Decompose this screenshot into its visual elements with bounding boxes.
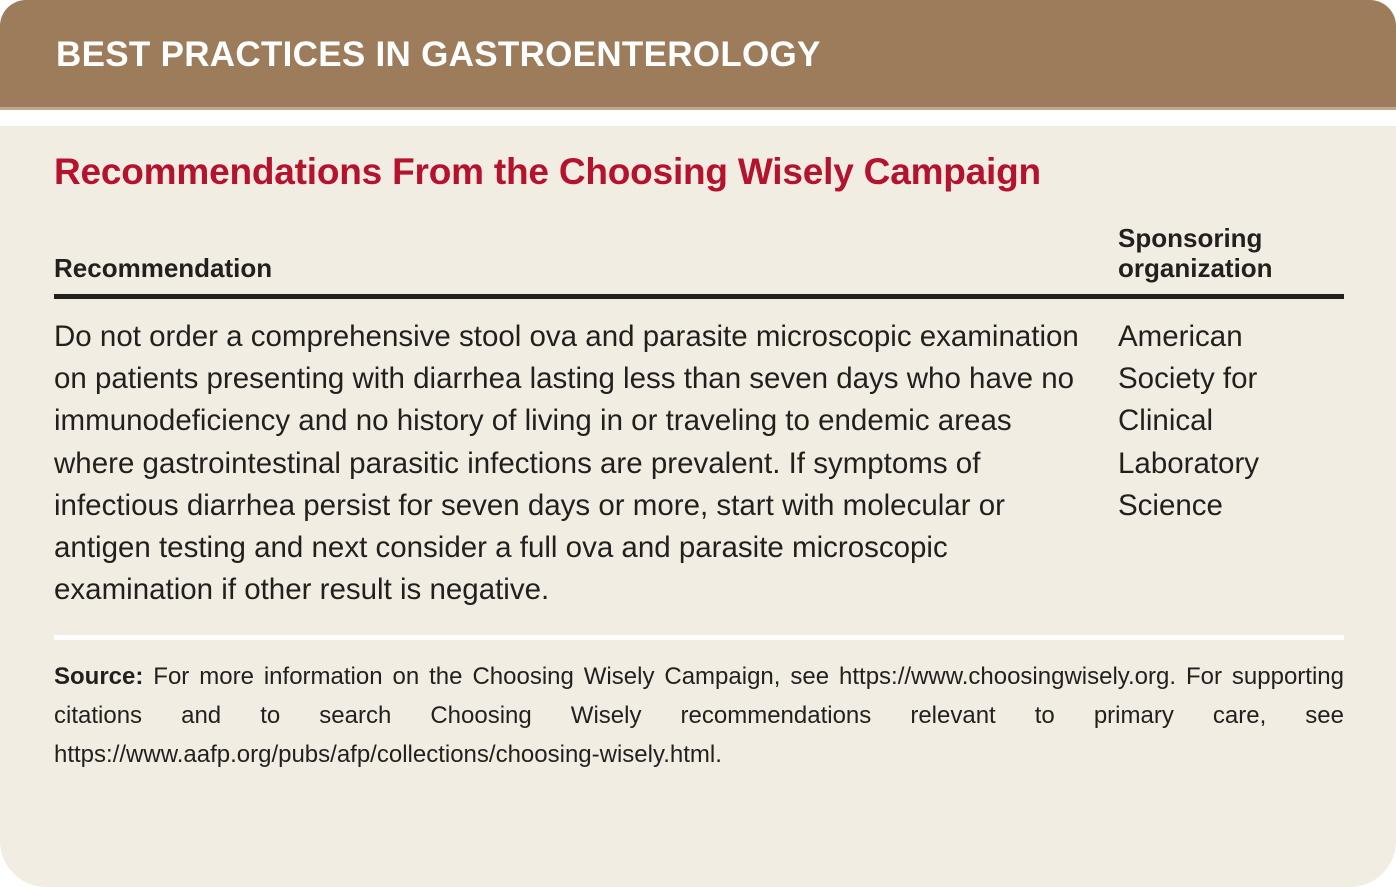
source-text: For more information on the Choosing Wis… [54, 663, 1344, 768]
table-head: Recommendation Sponsoring organization [54, 223, 1344, 297]
table-header-row: Recommendation Sponsoring organization [54, 223, 1344, 297]
source-label: Source: [54, 663, 143, 690]
source-note: Source: For more information on the Choo… [54, 658, 1344, 775]
card-heading: Recommendations From the Choosing Wisely… [54, 126, 1344, 193]
table-row: Do not order a comprehensive stool ova a… [54, 297, 1344, 612]
recommendation-card: Recommendations From the Choosing Wisely… [0, 126, 1396, 887]
banner-title: BEST PRACTICES IN GASTROENTEROLOGY [56, 35, 821, 75]
cell-recommendation: Do not order a comprehensive stool ova a… [54, 297, 1094, 612]
recommendations-table: Recommendation Sponsoring organization D… [54, 223, 1344, 612]
cell-sponsoring-organization: American Society for Clinical Laboratory… [1094, 297, 1344, 612]
table-body: Do not order a comprehensive stool ova a… [54, 297, 1344, 612]
best-practices-figure: BEST PRACTICES IN GASTROENTEROLOGY Recom… [0, 0, 1396, 887]
section-banner: BEST PRACTICES IN GASTROENTEROLOGY [0, 0, 1396, 110]
column-header-recommendation: Recommendation [54, 223, 1094, 297]
card-content: Recommendations From the Choosing Wisely… [54, 126, 1344, 799]
column-header-sponsoring-organization: Sponsoring organization [1094, 223, 1344, 297]
source-divider [54, 635, 1344, 640]
